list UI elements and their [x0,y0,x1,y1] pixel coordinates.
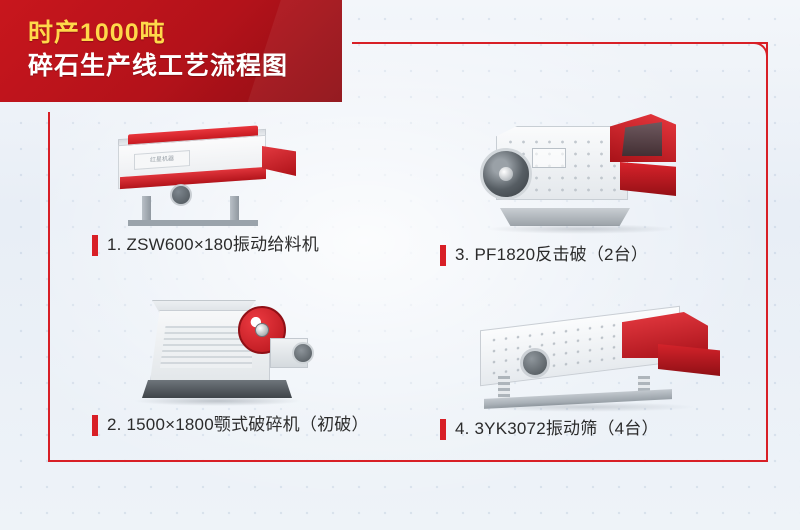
jaw-flywheel-hub [255,323,269,337]
frame-border-left [48,112,50,462]
item-vibrating-feeder: 红星机器 1. ZSW600×180振动给料机 [92,116,402,276]
frame-border-right [766,42,768,462]
caption-vibrating-feeder: 1. ZSW600×180振动给料机 [92,234,402,256]
item-impact-crusher: 3. PF1820反击破（2台） [440,100,760,276]
title-banner: 时产1000吨 碎石生产线工艺流程图 [0,0,342,102]
feeder-motor [170,184,192,206]
flowchart-poster: 时产1000吨 碎石生产线工艺流程图 红星机器 1. ZSW600×180振动给… [0,0,800,530]
screen-ground-shadow [476,402,696,412]
screen-discharge-chute [658,344,720,376]
caption-jaw-crusher: 2. 1500×1800颚式破碎机（初破） [92,414,402,436]
banner-title-primary: 时产1000吨 [28,17,342,49]
machine-illustration-vibrating-screen [462,282,742,412]
impact-discharge-outlet [620,162,676,196]
caption-text: 1. ZSW600×180振动给料机 [107,234,319,256]
caption-accent-bar [440,245,446,266]
feeder-discharge-chute [262,146,296,176]
impact-inspection-panel [532,148,566,168]
impact-ground-shadow [486,224,676,234]
caption-accent-bar [92,235,98,256]
impact-hood-shadow [622,122,662,156]
machine-illustration-vibrating-feeder: 红星机器 [104,116,304,228]
caption-text: 3. PF1820反击破（2台） [455,244,648,266]
screen-vibrator-motor [520,348,550,378]
caption-impact-crusher: 3. PF1820反击破（2台） [440,244,760,266]
item-vibrating-screen: 4. 3YK3072振动筛（4台） [440,282,760,454]
feeder-leg-right [230,196,239,222]
machine-illustration-impact-crusher [470,100,710,238]
caption-vibrating-screen: 4. 3YK3072振动筛（4台） [440,418,760,440]
caption-text: 2. 1500×1800颚式破碎机（初破） [107,414,369,436]
frame-border-bottom [48,460,768,462]
impact-flywheel-hub [499,167,513,181]
jaw-ground-shadow [134,396,302,406]
item-jaw-crusher: 2. 1500×1800颚式破碎机（初破） [92,282,402,454]
jaw-drive-pulley [292,342,314,364]
caption-accent-bar [92,415,98,436]
caption-text: 4. 3YK3072振动筛（4台） [455,418,659,440]
feeder-leg-left [142,196,151,222]
caption-accent-bar [440,419,446,440]
banner-title-secondary: 碎石生产线工艺流程图 [28,49,342,83]
screen-spring-left [498,376,510,398]
frame-border-top [352,42,768,44]
feeder-base [128,220,258,226]
machine-illustration-jaw-crusher [116,282,336,408]
